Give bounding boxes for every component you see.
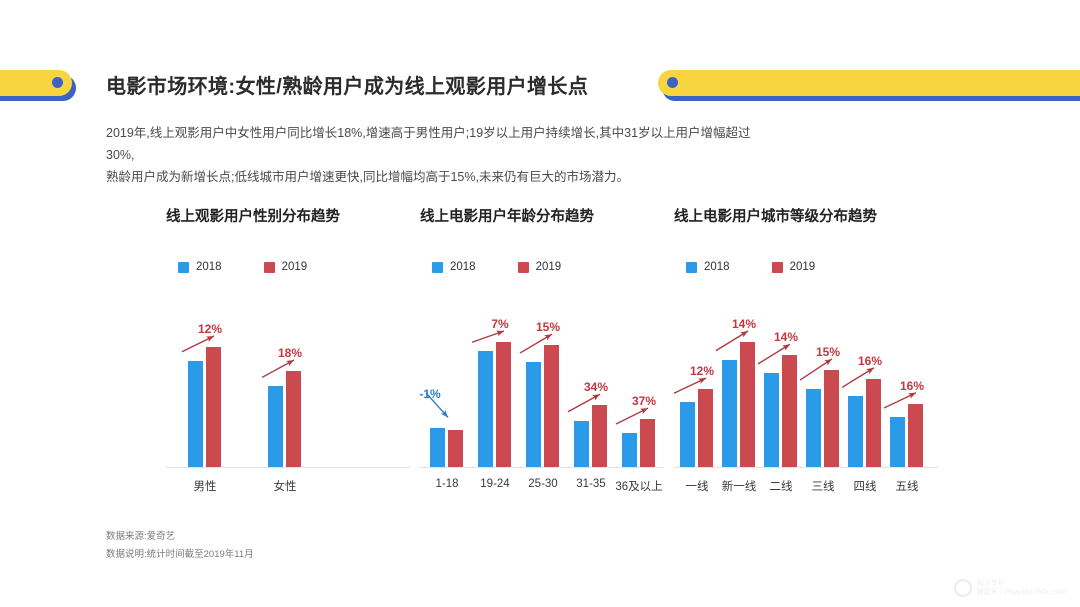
bar-group — [430, 428, 463, 467]
axis-baseline — [166, 467, 410, 468]
category-label: 19-24 — [480, 478, 509, 490]
bar-2019 — [698, 389, 713, 467]
growth-percentage-label: 15% — [816, 345, 840, 359]
bar-2019 — [908, 404, 923, 467]
footnote-note: 数据说明:统计时间截至2019年11月 — [106, 546, 254, 564]
bar-2018 — [268, 386, 283, 467]
bar-group — [806, 370, 839, 467]
category-label: 五线 — [896, 478, 919, 494]
legend-item-2018: 2018 — [686, 259, 730, 275]
watermark-text: 知乎专栏 搜狐号 / zhuanlan.zhihu.com — [977, 579, 1066, 597]
category-label: 25-30 — [528, 478, 557, 490]
category-label: 四线 — [854, 478, 877, 494]
growth-percentage-label: 18% — [278, 346, 302, 360]
legend-item-2019: 2019 — [772, 259, 816, 275]
decoration-dot-left — [52, 77, 63, 88]
category-label: 新一线 — [722, 478, 757, 494]
category-label: 女性 — [274, 478, 297, 494]
bar-2018 — [574, 421, 589, 467]
bar-2018 — [848, 396, 863, 467]
growth-percentage-label: 12% — [198, 322, 222, 336]
growth-percentage-label: 15% — [536, 320, 560, 334]
legend-item-2019: 2019 — [518, 259, 562, 275]
watermark-line-2: 搜狐号 / zhuanlan.zhihu.com — [977, 588, 1066, 597]
bar-2018 — [188, 361, 203, 467]
legend-item-2019: 2019 — [264, 259, 308, 275]
legend-swatch-2018-icon — [432, 262, 443, 273]
legend-label-2019: 2019 — [536, 261, 562, 273]
footnote-source: 数据来源:爱奇艺 — [106, 528, 254, 546]
category-label: 1-18 — [435, 478, 458, 490]
axis-baseline — [420, 467, 664, 468]
bar-group — [268, 371, 301, 467]
intro-line-1: 2019年,线上观影用户中女性用户同比增长18%,增速高于男性用户;19岁以上用… — [106, 122, 766, 166]
category-label: 36及以上 — [615, 478, 662, 494]
growth-percentage-label: 37% — [632, 394, 656, 408]
legend-item-2018: 2018 — [432, 259, 476, 275]
legend-gender: 2018 2019 — [166, 259, 396, 275]
legend-item-2018: 2018 — [178, 259, 222, 275]
legend-swatch-2019-icon — [264, 262, 275, 273]
legend-label-2018: 2018 — [196, 261, 222, 273]
bar-2019 — [448, 430, 463, 467]
growth-percentage-label: 34% — [584, 380, 608, 394]
bar-2018 — [890, 417, 905, 467]
decoration-bar-right — [658, 70, 1080, 96]
chart-title-city-tier: 线上电影用户城市等级分布趋势 — [674, 205, 924, 227]
bar-2018 — [622, 433, 637, 467]
bar-2019 — [640, 419, 655, 467]
chart-title-age: 线上电影用户年龄分布趋势 — [420, 205, 650, 227]
growth-percentage-label: 7% — [491, 317, 508, 331]
bar-group — [848, 379, 881, 467]
category-label: 一线 — [686, 478, 709, 494]
category-label: 31-35 — [576, 478, 605, 490]
growth-percentage-label: -1% — [419, 387, 440, 401]
bar-group — [478, 342, 511, 467]
growth-percentage-label: 14% — [774, 330, 798, 344]
chart-gender: 线上观影用户性别分布趋势 2018 2019 男性12%女性18% — [166, 205, 396, 468]
growth-percentage-label: 16% — [858, 354, 882, 368]
legend-swatch-2019-icon — [772, 262, 783, 273]
bar-2019 — [544, 345, 559, 467]
legend-label-2018: 2018 — [704, 261, 730, 273]
watermark: 知乎专栏 搜狐号 / zhuanlan.zhihu.com — [954, 579, 1066, 597]
chart-city-tier: 线上电影用户城市等级分布趋势 2018 2019 一线12%新一线14%二线14… — [674, 205, 924, 468]
category-label: 二线 — [770, 478, 793, 494]
plot-area-gender: 男性12%女性18% — [166, 293, 396, 468]
legend-swatch-2018-icon — [178, 262, 189, 273]
legend-swatch-2018-icon — [686, 262, 697, 273]
chart-title-gender: 线上观影用户性别分布趋势 — [166, 205, 396, 227]
growth-percentage-label: 16% — [900, 379, 924, 393]
bar-2018 — [680, 402, 695, 467]
legend-swatch-2019-icon — [518, 262, 529, 273]
header-decoration-left — [0, 70, 72, 96]
header-decoration-right — [658, 70, 1080, 96]
bar-2018 — [806, 389, 821, 467]
legend-age: 2018 2019 — [420, 259, 650, 275]
growth-percentage-label: 14% — [732, 317, 756, 331]
bar-2019 — [740, 342, 755, 467]
slide-page: 电影市场环境:女性/熟龄用户成为线上观影用户增长点 2019年,线上观影用户中女… — [0, 0, 1080, 607]
bar-2018 — [430, 428, 445, 467]
bar-2019 — [206, 347, 221, 467]
bar-group — [890, 404, 923, 467]
legend-label-2018: 2018 — [450, 261, 476, 273]
bar-group — [526, 345, 559, 467]
legend-label-2019: 2019 — [282, 261, 308, 273]
watermark-logo-icon — [954, 579, 972, 597]
intro-paragraph: 2019年,线上观影用户中女性用户同比增长18%,增速高于男性用户;19岁以上用… — [106, 122, 766, 188]
bar-group — [574, 405, 607, 467]
axis-baseline — [674, 467, 938, 468]
bar-2018 — [526, 362, 541, 467]
charts-container: 线上观影用户性别分布趋势 2018 2019 男性12%女性18% 线上电影用户… — [0, 205, 1080, 505]
plot-area-age: 1-18-1%19-247%25-3015%31-3534%36及以上37% — [420, 293, 650, 468]
category-label: 男性 — [194, 478, 217, 494]
bar-2019 — [782, 355, 797, 467]
legend-label-2019: 2019 — [790, 261, 816, 273]
bar-2019 — [592, 405, 607, 467]
bar-group — [764, 355, 797, 467]
bar-group — [188, 347, 221, 467]
bar-2019 — [496, 342, 511, 467]
bar-2018 — [764, 373, 779, 467]
chart-age: 线上电影用户年龄分布趋势 2018 2019 1-18-1%19-247%25-… — [420, 205, 650, 468]
growth-percentage-label: 12% — [690, 364, 714, 378]
bar-2018 — [478, 351, 493, 467]
bar-2019 — [286, 371, 301, 467]
bar-group — [622, 419, 655, 467]
plot-area-city-tier: 一线12%新一线14%二线14%三线15%四线16%五线16% — [674, 293, 924, 468]
bar-group — [722, 342, 755, 467]
category-label: 三线 — [812, 478, 835, 494]
watermark-line-1: 知乎专栏 — [977, 579, 1066, 588]
footnotes: 数据来源:爱奇艺 数据说明:统计时间截至2019年11月 — [106, 528, 254, 564]
bar-2018 — [722, 360, 737, 467]
intro-line-2: 熟龄用户成为新增长点;低线城市用户增速更快,同比增幅均高于15%,未来仍有巨大的… — [106, 166, 766, 188]
bar-group — [680, 389, 713, 467]
legend-city-tier: 2018 2019 — [674, 259, 924, 275]
bar-2019 — [824, 370, 839, 467]
bar-2019 — [866, 379, 881, 467]
page-title: 电影市场环境:女性/熟龄用户成为线上观影用户增长点 — [106, 70, 588, 99]
decoration-dot-right — [667, 77, 678, 88]
